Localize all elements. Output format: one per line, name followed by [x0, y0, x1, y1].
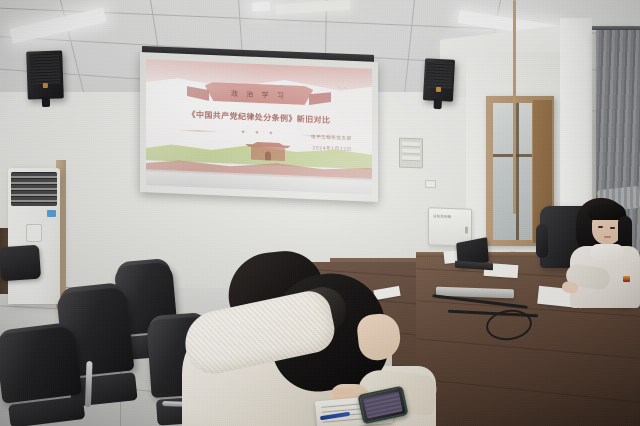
projection-screen: 〜〜 政 治 学 习 《中国共产党纪律处分条例》新旧对比 ★ ★ ★ 电子工程系…	[140, 52, 378, 202]
attendee-right-mouth	[604, 236, 611, 238]
door-mullion-vertical	[516, 103, 519, 240]
attendee-right-collar	[590, 244, 624, 260]
control-box-handle	[465, 226, 468, 233]
attendee-front-face	[356, 312, 403, 362]
speaker-grille	[29, 53, 60, 84]
meeting-room-photo: 〜〜 政 治 学 习 《中国共产党纪律处分条例》新旧对比 ★ ★ ★ 电子工程系…	[0, 0, 640, 426]
attendee-right-eye-left	[598, 226, 603, 228]
chair-1[interactable]	[0, 325, 86, 426]
laptop-computer[interactable]	[455, 240, 491, 272]
attendee-right-party-badge	[623, 276, 630, 282]
speaker-mount	[41, 97, 50, 107]
birds-graphic: 〜〜	[337, 85, 349, 92]
chair-side-wing	[536, 224, 548, 258]
control-box-label: 消防控制箱	[433, 213, 451, 219]
chair-backrest	[0, 325, 82, 403]
floor-standing-air-conditioner[interactable]	[8, 168, 60, 304]
ac-vent-grille	[11, 172, 57, 206]
ac-display-panel[interactable]	[26, 224, 42, 242]
wall-speaker-right	[423, 58, 455, 102]
finger-1	[332, 388, 354, 395]
chair-far-1[interactable]	[0, 245, 41, 282]
slide-main-title: 《中国共产党纪律处分条例》新旧对比	[146, 107, 372, 127]
gate-arch	[265, 151, 270, 160]
attendee-right	[568, 198, 640, 313]
wall-speaker-left	[26, 50, 64, 99]
ceiling-light-3	[252, 1, 271, 11]
ac-energy-label	[47, 210, 56, 217]
hanging-cable	[513, 0, 516, 214]
wall-air-vent	[399, 138, 423, 169]
projected-slide: 〜〜 政 治 学 习 《中国共产党纪律处分条例》新旧对比 ★ ★ ★ 电子工程系…	[146, 59, 372, 194]
slide-organization: 电子工程系党支部	[311, 134, 352, 142]
speaker-mount	[434, 99, 442, 109]
laptop-keyboard-base[interactable]	[455, 261, 493, 271]
attendee-right-eye-right	[610, 227, 615, 229]
tiananmen-gate-graphic	[245, 140, 290, 161]
speaker-badge	[43, 83, 48, 88]
light-switch-plate[interactable]	[425, 180, 436, 188]
phone-screen[interactable]	[363, 391, 402, 418]
speaker-grille	[426, 61, 453, 88]
speaker-badge	[436, 87, 441, 92]
